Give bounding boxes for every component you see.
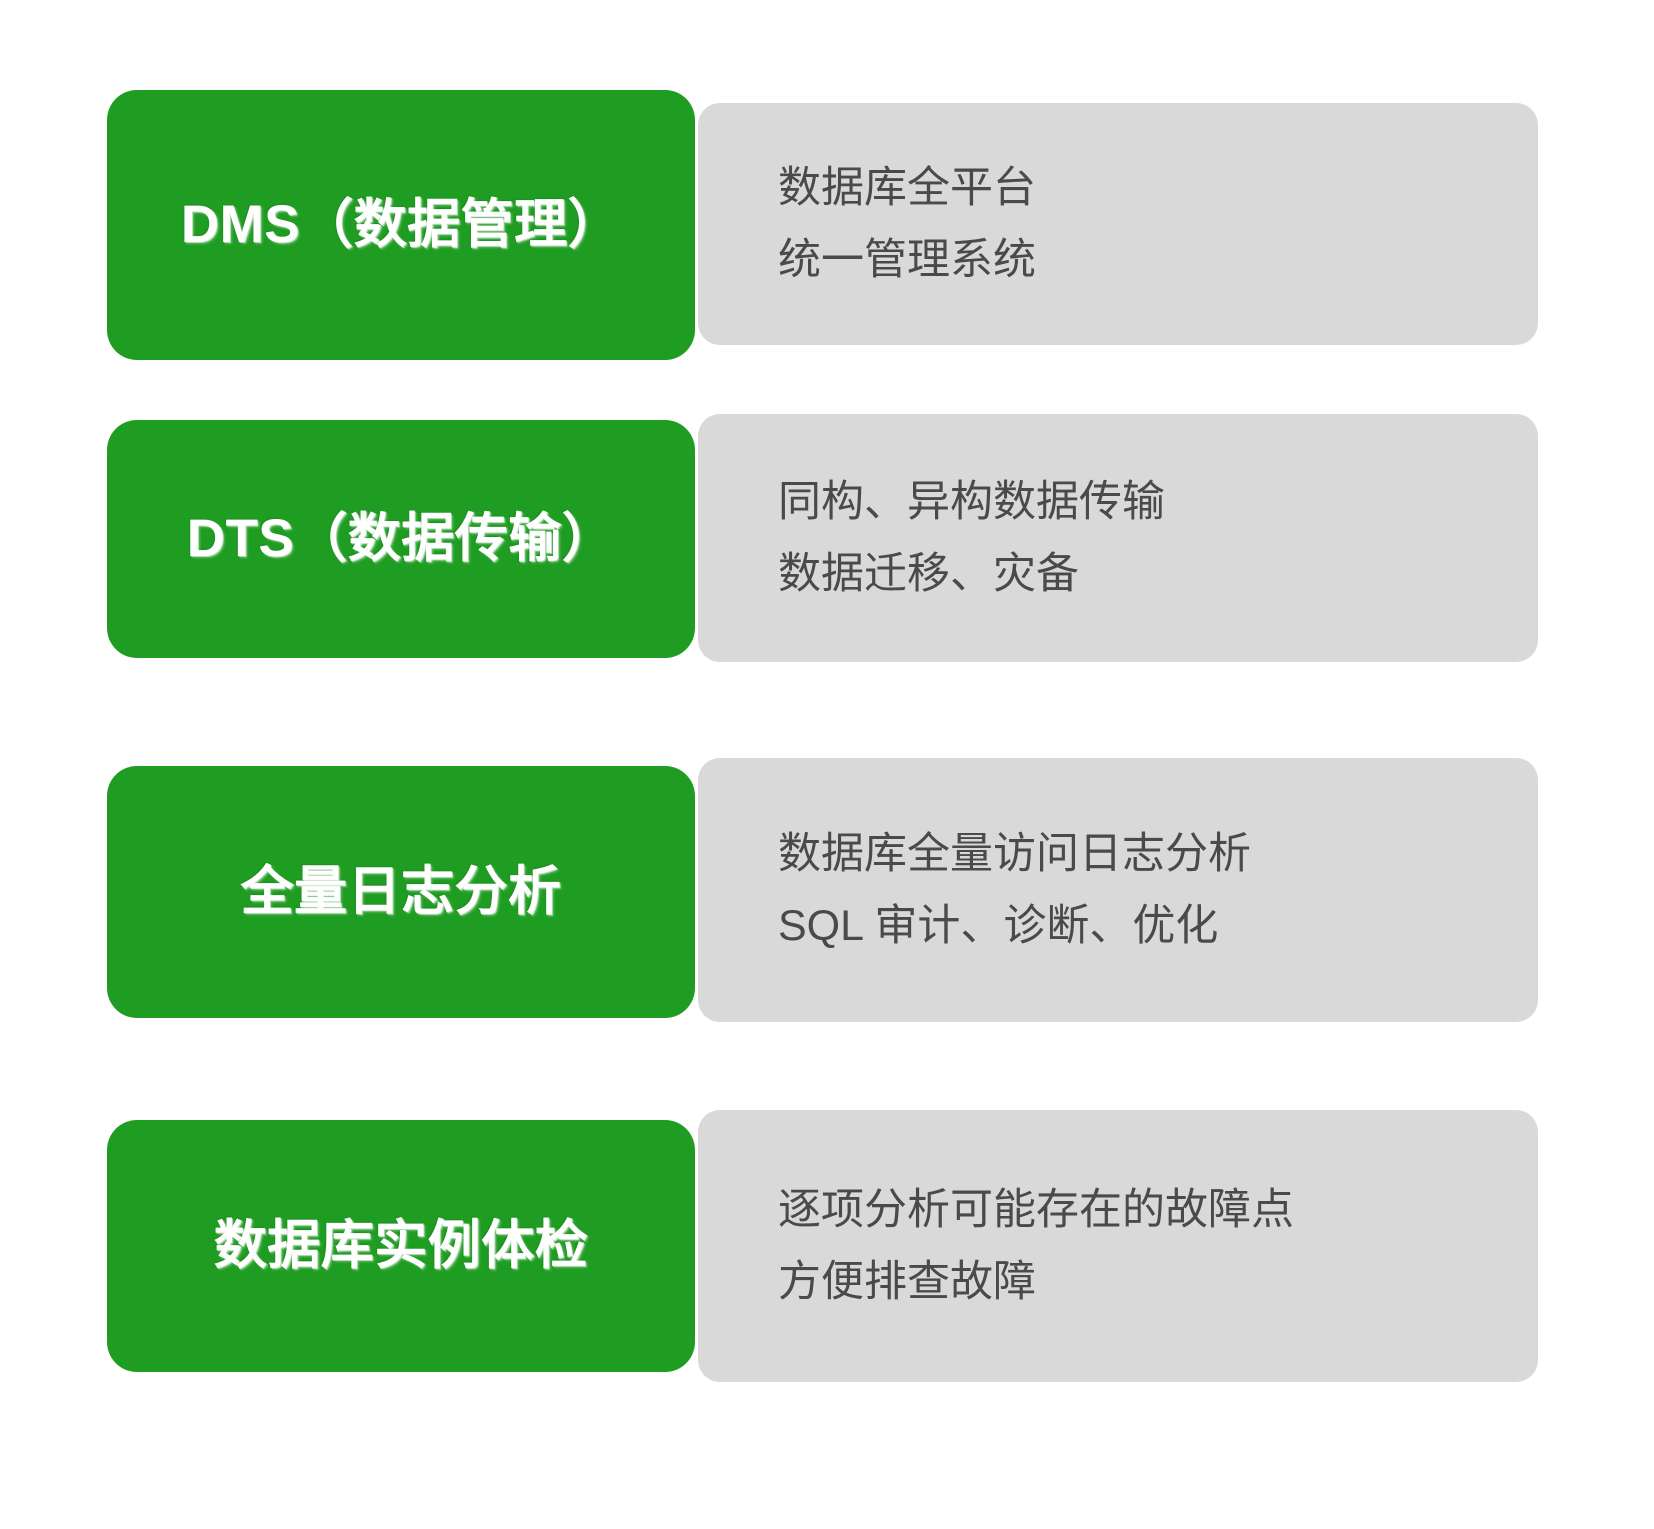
- feature-label-chip-full-log-analysis[interactable]: 全量日志分析: [107, 766, 695, 1018]
- feature-label-text-db-instance-health-check: 数据库实例体检: [214, 1214, 589, 1278]
- feature-description-panel-full-log-analysis: 数据库全量访问日志分析 SQL 审计、诊断、优化: [698, 758, 1538, 1022]
- feature-description-line: 统一管理系统: [778, 224, 1538, 296]
- feature-list: DMS（数据管理） 数据库全平台 统一管理系统 DTS（数据传输） 同构、异构数…: [0, 0, 1654, 1529]
- feature-label-text-full-log-analysis: 全量日志分析: [241, 860, 562, 924]
- feature-description-line: SQL 审计、诊断、优化: [778, 890, 1538, 962]
- feature-description-line: 数据库全平台: [778, 152, 1538, 224]
- feature-description-panel-dts: 同构、异构数据传输 数据迁移、灾备: [698, 414, 1538, 662]
- feature-label-text-dts: DTS（数据传输）: [187, 507, 616, 571]
- feature-description-line: 方便排查故障: [778, 1246, 1538, 1318]
- feature-description-line: 逐项分析可能存在的故障点: [778, 1174, 1538, 1246]
- feature-description-panel-dms: 数据库全平台 统一管理系统: [698, 103, 1538, 345]
- feature-label-text-dms: DMS（数据管理）: [181, 193, 621, 257]
- feature-description-line: 同构、异构数据传输: [778, 466, 1538, 538]
- feature-description-line: 数据迁移、灾备: [778, 538, 1538, 610]
- feature-description-line: 数据库全量访问日志分析: [778, 818, 1538, 890]
- feature-label-chip-dts[interactable]: DTS（数据传输）: [107, 420, 695, 658]
- feature-label-chip-dms[interactable]: DMS（数据管理）: [107, 90, 695, 360]
- feature-description-panel-db-instance-health-check: 逐项分析可能存在的故障点 方便排查故障: [698, 1110, 1538, 1382]
- feature-label-chip-db-instance-health-check[interactable]: 数据库实例体检: [107, 1120, 695, 1372]
